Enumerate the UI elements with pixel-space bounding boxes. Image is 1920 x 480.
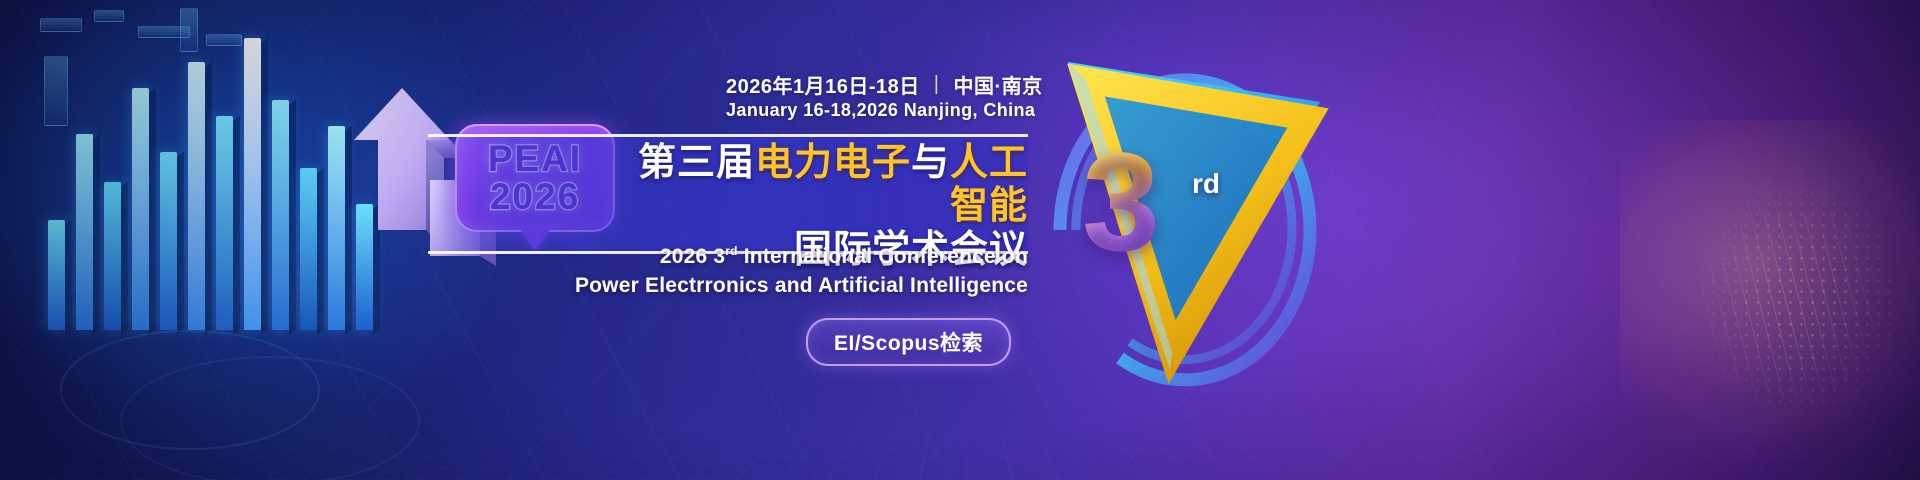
english-title: 2026 3rd International Conference on Pow… <box>560 243 1028 301</box>
date-location-row-en: January 16-18,2026 Nanjing, China <box>726 100 1035 121</box>
ordinal-suffix: rd <box>725 244 737 258</box>
indexing-badge: EI/Scopus检索 <box>806 318 1011 366</box>
conference-banner: PEAI 2026 2026年1月16日-18日 | 中国·南京 January… <box>0 0 1920 480</box>
title-prefix: 第三届 <box>638 142 755 184</box>
chinese-title-line-1: 第三届电力电子与人工智能 <box>628 142 1028 229</box>
english-title-line-2: Power Electrronics and Artificial Intell… <box>560 272 1028 301</box>
english-title-line-1: 2026 3rd International Conference on <box>560 243 1028 272</box>
title-keyword-power-electronics: 电力电子 <box>755 142 911 184</box>
title-keyword-ai: 人工智能 <box>950 142 1028 227</box>
english-title-post: International Conference on <box>738 245 1028 268</box>
date-cn: 2026年1月16日-18日 <box>726 70 920 99</box>
english-title-pre: 2026 3 <box>660 245 725 268</box>
emblem-number: 3 <box>1082 132 1160 272</box>
date-separator: | <box>934 73 940 96</box>
date-location-row-cn: 2026年1月16日-18日 | 中国·南京 <box>726 70 1043 99</box>
title-conjunction: 与 <box>911 142 950 184</box>
third-edition-emblem: 3 rd <box>1020 40 1350 420</box>
emblem-ordinal: rd <box>1192 168 1220 200</box>
